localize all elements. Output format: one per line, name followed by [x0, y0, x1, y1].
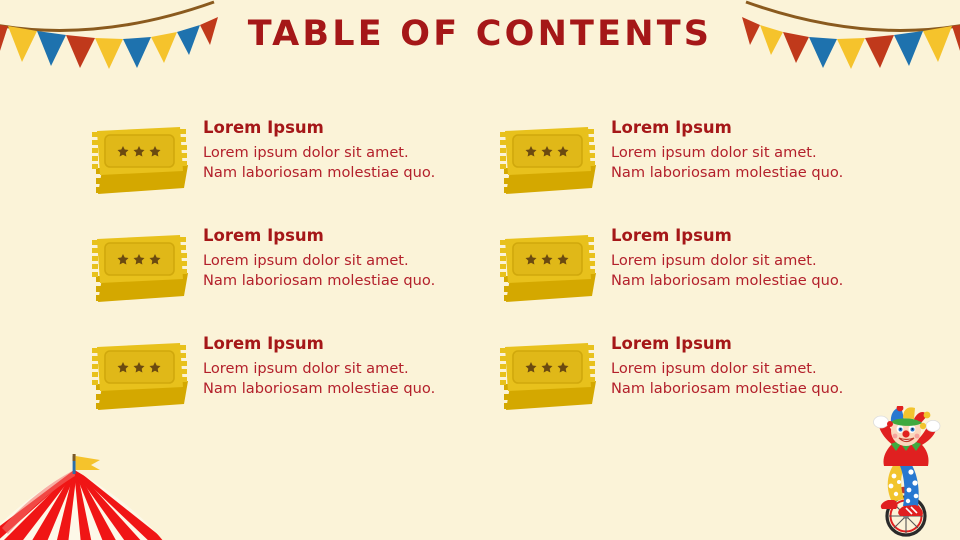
- circus-tent-icon: [0, 452, 174, 540]
- toc-item[interactable]: Lorem Ipsum Lorem ipsum dolor sit amet. …: [88, 226, 480, 304]
- toc-item[interactable]: Lorem Ipsum Lorem ipsum dolor sit amet. …: [88, 118, 480, 196]
- toc-item-line1: Lorem ipsum dolor sit amet.: [203, 359, 480, 379]
- toc-text-block: Lorem Ipsum Lorem ipsum dolor sit amet. …: [191, 226, 480, 290]
- toc-item-line1: Lorem ipsum dolor sit amet.: [611, 359, 888, 379]
- toc-item-heading: Lorem Ipsum: [203, 335, 480, 354]
- toc-item-line2: Nam laboriosam molestiae quo.: [611, 163, 888, 183]
- toc-text-block: Lorem Ipsum Lorem ipsum dolor sit amet. …: [191, 334, 480, 398]
- toc-item-line1: Lorem ipsum dolor sit amet.: [203, 251, 480, 271]
- ticket-icon: [496, 230, 599, 308]
- toc-text-block: Lorem Ipsum Lorem ipsum dolor sit amet. …: [599, 334, 888, 398]
- toc-text-block: Lorem Ipsum Lorem ipsum dolor sit amet. …: [191, 118, 480, 182]
- slide-canvas: TABLE OF CONTENTS: [0, 0, 960, 540]
- toc-item-line1: Lorem ipsum dolor sit amet.: [611, 251, 888, 271]
- toc-item-line2: Nam laboriosam molestiae quo.: [611, 379, 888, 399]
- toc-item-line2: Nam laboriosam molestiae quo.: [611, 271, 888, 291]
- toc-item[interactable]: Lorem Ipsum Lorem ipsum dolor sit amet. …: [496, 226, 888, 304]
- toc-item-heading: Lorem Ipsum: [611, 335, 888, 354]
- toc-grid: Lorem Ipsum Lorem ipsum dolor sit amet. …: [88, 118, 888, 412]
- ticket-icon: [88, 338, 191, 416]
- toc-item[interactable]: Lorem Ipsum Lorem ipsum dolor sit amet. …: [88, 334, 480, 412]
- toc-item-line1: Lorem ipsum dolor sit amet.: [203, 143, 480, 163]
- toc-item-line2: Nam laboriosam molestiae quo.: [203, 271, 480, 291]
- toc-item[interactable]: Lorem Ipsum Lorem ipsum dolor sit amet. …: [496, 118, 888, 196]
- toc-item-heading: Lorem Ipsum: [203, 227, 480, 246]
- toc-item[interactable]: Lorem Ipsum Lorem ipsum dolor sit amet. …: [496, 334, 888, 412]
- toc-item-heading: Lorem Ipsum: [203, 119, 480, 138]
- toc-item-line2: Nam laboriosam molestiae quo.: [203, 163, 480, 183]
- toc-item-line1: Lorem ipsum dolor sit amet.: [611, 143, 888, 163]
- toc-item-heading: Lorem Ipsum: [611, 119, 888, 138]
- ticket-icon: [88, 122, 191, 200]
- clown-on-unicycle-icon: [870, 406, 956, 538]
- ticket-icon: [496, 122, 599, 200]
- toc-text-block: Lorem Ipsum Lorem ipsum dolor sit amet. …: [599, 226, 888, 290]
- ticket-icon: [496, 338, 599, 416]
- page-title: TABLE OF CONTENTS: [0, 14, 960, 54]
- ticket-icon: [88, 230, 191, 308]
- toc-item-heading: Lorem Ipsum: [611, 227, 888, 246]
- toc-item-line2: Nam laboriosam molestiae quo.: [203, 379, 480, 399]
- toc-text-block: Lorem Ipsum Lorem ipsum dolor sit amet. …: [599, 118, 888, 182]
